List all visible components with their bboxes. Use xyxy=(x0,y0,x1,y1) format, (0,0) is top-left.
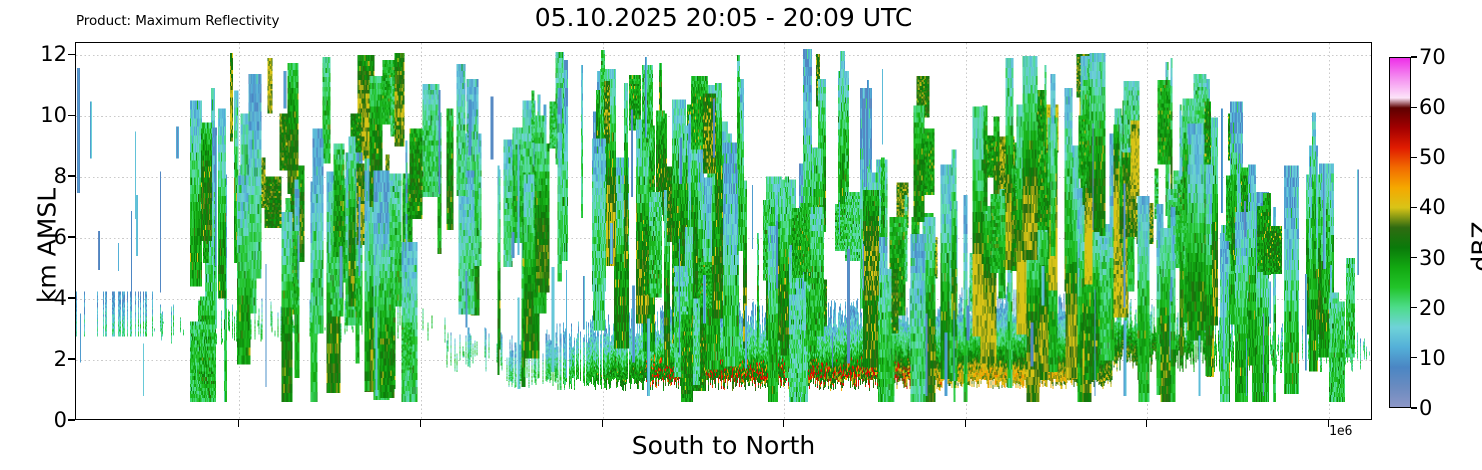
y-tick-mark xyxy=(68,419,75,420)
colorbar-tick-mark xyxy=(1411,257,1417,258)
colorbar-label: dBZ xyxy=(1467,137,1482,357)
y-tick-mark xyxy=(68,297,75,298)
x-tick-mark xyxy=(783,420,784,427)
y-tick-mark xyxy=(68,54,75,55)
colorbar-tick-label: 20 xyxy=(1419,296,1446,320)
x-axis-offset-text: 1e6 xyxy=(1329,424,1352,439)
page-title: 05.10.2025 20:05 - 20:09 UTC xyxy=(75,3,1372,32)
x-tick-mark xyxy=(420,420,421,427)
reflectivity-heatmap xyxy=(76,43,1371,419)
colorbar-tick-mark xyxy=(1411,107,1417,108)
colorbar-gradient xyxy=(1389,57,1411,408)
colorbar-tick-mark xyxy=(1411,357,1417,358)
y-tick-mark xyxy=(68,236,75,237)
colorbar-tick-mark xyxy=(1411,157,1417,158)
y-tick-label: 0 xyxy=(54,408,67,432)
x-tick-mark xyxy=(965,420,966,427)
colorbar-tick-label: 40 xyxy=(1419,195,1446,219)
colorbar-tick-mark xyxy=(1411,407,1417,408)
plot-area xyxy=(75,42,1372,420)
y-tick-mark xyxy=(68,175,75,176)
radar-cross-section-figure: Product: Maximum Reflectivity 05.10.2025… xyxy=(0,0,1482,470)
colorbar xyxy=(1389,57,1411,408)
colorbar-tick-label: 10 xyxy=(1419,346,1446,370)
colorbar-tick-label: 60 xyxy=(1419,95,1446,119)
x-axis-label: South to North xyxy=(75,431,1372,460)
x-tick-mark xyxy=(1146,420,1147,427)
colorbar-tick-label: 50 xyxy=(1419,145,1446,169)
x-tick-mark xyxy=(238,420,239,427)
x-tick-mark xyxy=(602,420,603,427)
y-tick-mark xyxy=(68,358,75,359)
colorbar-tick-label: 30 xyxy=(1419,246,1446,270)
y-tick-mark xyxy=(68,115,75,116)
y-axis-label: km AMSL xyxy=(33,131,62,361)
y-tick-label: 12 xyxy=(40,42,67,66)
colorbar-tick-mark xyxy=(1411,307,1417,308)
colorbar-tick-mark xyxy=(1411,56,1417,57)
y-tick-label: 10 xyxy=(40,103,67,127)
colorbar-tick-label: 0 xyxy=(1419,396,1432,420)
colorbar-tick-label: 70 xyxy=(1419,45,1446,69)
colorbar-tick-mark xyxy=(1411,207,1417,208)
